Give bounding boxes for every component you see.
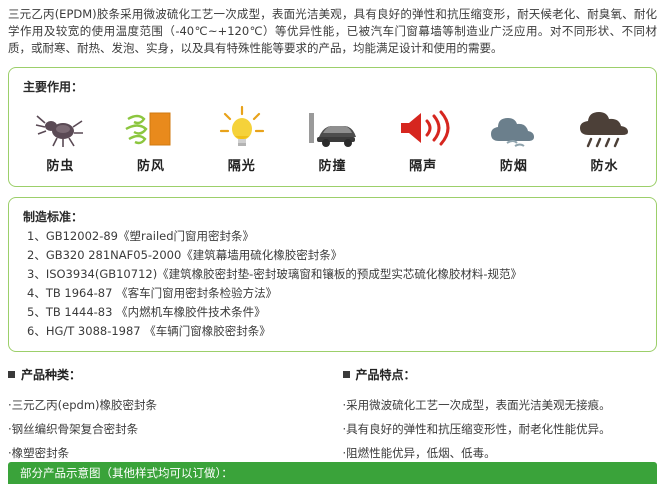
function-item-fangchong: 防虫	[19, 105, 101, 174]
speaker-icon	[382, 105, 464, 149]
function-label-fangyan: 防烟	[473, 155, 555, 174]
section-header-label: 部分产品示意图（其他样式均可以订做）：	[8, 465, 233, 481]
function-item-gesheng: 隔声	[382, 105, 464, 174]
page-root: 三元乙丙(EPDM)胶条采用微波硫化工艺一次成型，表面光洁美观，具有良好的弹性和…	[0, 0, 665, 484]
sun-icon	[201, 105, 283, 149]
function-label-geguang: 隔光	[201, 155, 283, 174]
standards-line: 2、GB320 281NAF05-2000《建筑幕墙用硫化橡胶密封条》	[9, 246, 656, 265]
function-item-geguang: 隔光	[201, 105, 283, 174]
function-item-fangyan: 防烟	[473, 105, 555, 174]
car-crash-icon	[291, 105, 373, 149]
function-label-fangzhuang: 防撞	[291, 155, 373, 174]
product-types-title-text: 产品种类：	[21, 366, 81, 383]
intro-paragraph: 三元乙丙(EPDM)胶条采用微波硫化工艺一次成型，表面光洁美观，具有良好的弹性和…	[0, 0, 665, 57]
smoke-icon	[473, 105, 555, 149]
product-types-title: 产品种类：	[8, 366, 333, 383]
function-item-fangfeng: 防风	[110, 105, 192, 174]
main-functions-title: 主要作用：	[9, 68, 656, 95]
standards-line: 4、TB 1964-87 《客车门窗用密封条检验方法》	[9, 284, 656, 303]
wind-icon	[110, 105, 192, 149]
product-type-item: ·钢丝编织骨架复合密封条	[8, 417, 333, 441]
main-functions-icon-row: 防虫 防风	[9, 95, 656, 186]
product-features-title: 产品特点：	[343, 366, 658, 383]
function-item-fangshui: 防水	[564, 105, 646, 174]
main-functions-box: 主要作用： 防虫	[8, 67, 657, 187]
product-feature-item: ·采用微波硫化工艺一次成型，表面光洁美观无接痕。	[343, 393, 658, 417]
standards-line: 6、HG/T 3088-1987 《车辆门窗橡胶密封条》	[9, 322, 656, 341]
function-item-fangzhuang: 防撞	[291, 105, 373, 174]
function-label-fangshui: 防水	[564, 155, 646, 174]
standards-line: 5、TB 1444-83 《内燃机车橡胶件技术条件》	[9, 303, 656, 322]
square-bullet-icon	[8, 371, 15, 378]
standards-line: 3、ISO3934(GB10712)《建筑橡胶密封垫-密封玻璃窗和镶板的预成型实…	[9, 265, 656, 284]
standards-line: 1、GB12002-89《塑railed门窗用密封条》	[9, 227, 656, 246]
bug-icon	[19, 105, 101, 149]
standards-box: 制造标准： 1、GB12002-89《塑railed门窗用密封条》 2、GB32…	[8, 197, 657, 352]
product-feature-item: ·具有良好的弹性和抗压缩变形性，耐老化性能优异。	[343, 417, 658, 441]
square-bullet-icon	[343, 371, 350, 378]
product-features-title-text: 产品特点：	[356, 366, 416, 383]
function-label-gesheng: 隔声	[382, 155, 464, 174]
product-type-item: ·三元乙丙(epdm)橡胶密封条	[8, 393, 333, 417]
function-label-fangfeng: 防风	[110, 155, 192, 174]
standards-title: 制造标准：	[9, 198, 656, 225]
standards-list: 1、GB12002-89《塑railed门窗用密封条》 2、GB320 281N…	[9, 225, 656, 351]
section-header-bar: 部分产品示意图（其他样式均可以订做）：	[8, 462, 657, 484]
rain-cloud-icon	[564, 105, 646, 149]
function-label-fangchong: 防虫	[19, 155, 101, 174]
